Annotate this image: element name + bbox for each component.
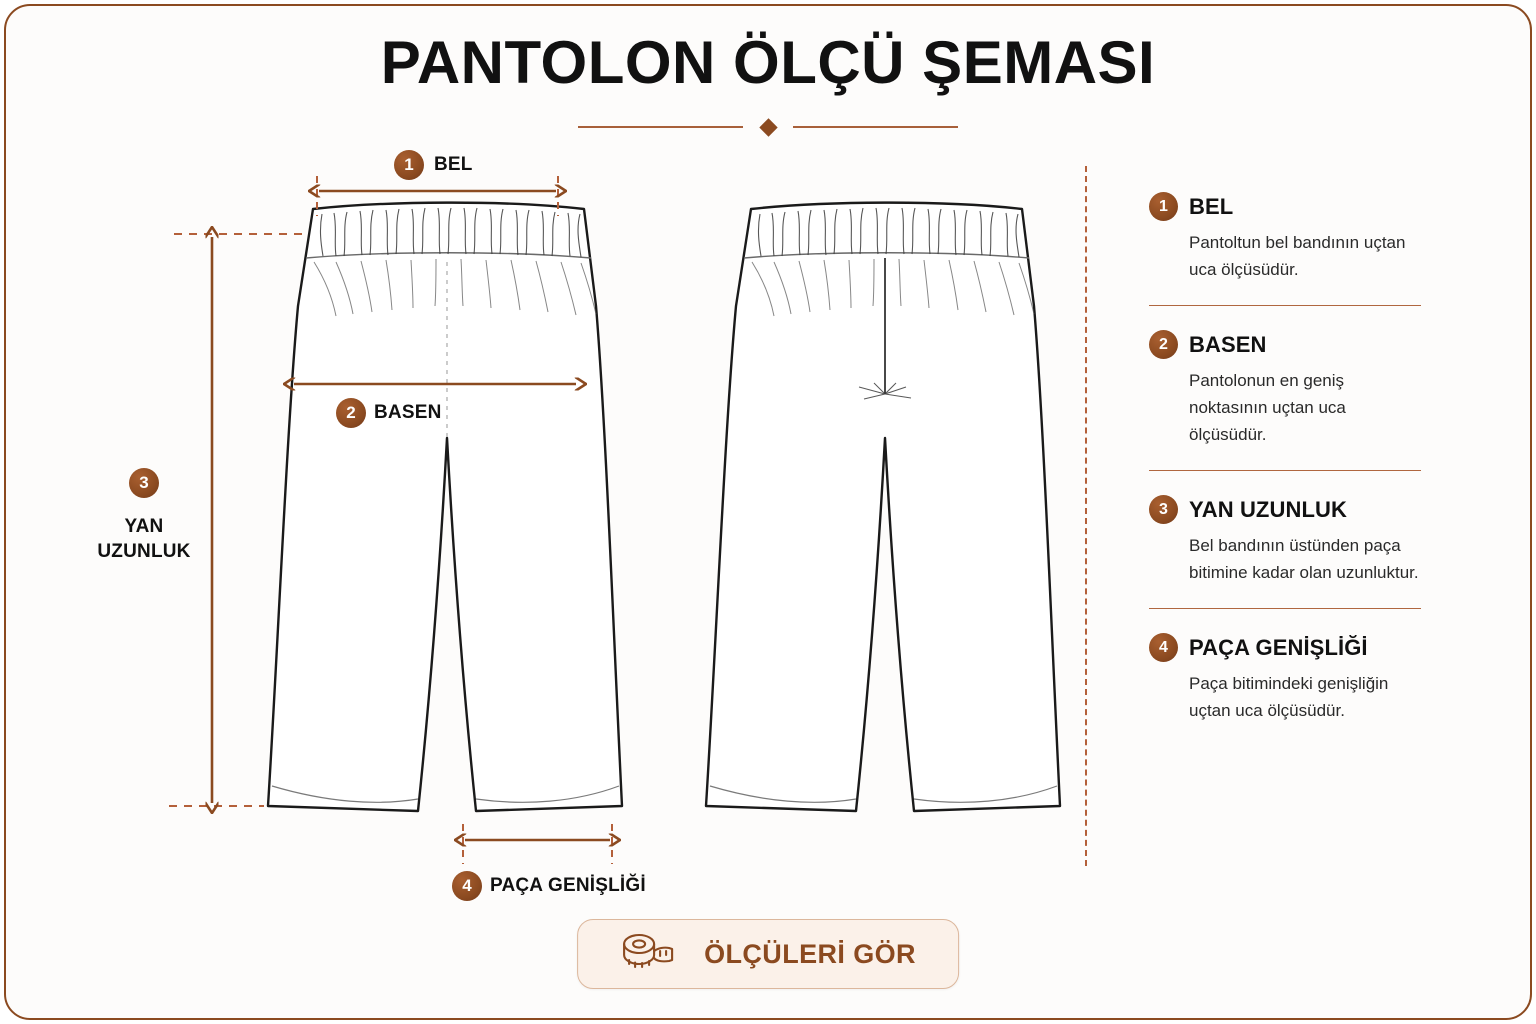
diagram-label-yan-uzunluk: YAN UZUNLUK: [84, 514, 204, 564]
legend-title-3: YAN UZUNLUK: [1189, 497, 1347, 523]
legend-title-1: BEL: [1189, 194, 1233, 220]
legend-badge-4: 4: [1149, 633, 1178, 662]
diagram-badge-3: 3: [129, 468, 159, 498]
legend-item-bel: 1 BEL Pantoltun bel bandının uçtan uca ö…: [1149, 192, 1421, 283]
legend-badge-1: 1: [1149, 192, 1178, 221]
legend-title-4: PAÇA GENİŞLİĞİ: [1189, 635, 1368, 661]
legend-separator-3: [1149, 608, 1421, 609]
view-measurements-label: ÖLÇÜLERİ GÖR: [704, 939, 916, 970]
diagram-badge-2: 2: [336, 398, 366, 428]
legend-desc-1: Pantoltun bel bandının uçtan uca ölçüsüd…: [1189, 229, 1421, 283]
legend-item-basen: 2 BASEN Pantolonun en geniş noktasının u…: [1149, 330, 1421, 448]
legend-desc-4: Paça bitimindeki genişliğin uçtan uca öl…: [1189, 670, 1421, 724]
pants-front-view: [268, 203, 622, 811]
measure-paca-genisligi: [463, 824, 612, 864]
diagram-label-paca-genisligi: PAÇA GENİŞLİĞİ: [490, 875, 646, 897]
legend-badge-3: 3: [1149, 495, 1178, 524]
diagram-label-basen: BASEN: [374, 402, 442, 424]
measuring-tape-icon: [620, 931, 676, 978]
back-body-outline: [706, 203, 1060, 811]
pants-back-view: [706, 203, 1060, 811]
pants-diagram: 1 BEL 2 BASEN 3 YAN UZUNLUK 4 PAÇA GENİŞ…: [6, 6, 1089, 1020]
legend-desc-3: Bel bandının üstünden paça bitimine kada…: [1189, 532, 1421, 586]
legend-head-1: 1 BEL: [1149, 192, 1421, 221]
legend-separator-2: [1149, 470, 1421, 471]
legend-title-2: BASEN: [1189, 332, 1267, 358]
legend-head-3: 3 YAN UZUNLUK: [1149, 495, 1421, 524]
pants-technical-drawing: [6, 6, 1089, 1020]
legend-badge-2: 2: [1149, 330, 1178, 359]
legend-separator-1: [1149, 305, 1421, 306]
view-measurements-button[interactable]: ÖLÇÜLERİ GÖR: [577, 919, 959, 989]
diagram-badge-1: 1: [394, 150, 424, 180]
legend-desc-2: Pantolonun en geniş noktasının uçtan uca…: [1189, 367, 1421, 448]
legend-head-4: 4 PAÇA GENİŞLİĞİ: [1149, 633, 1421, 662]
front-body-outline: [268, 203, 622, 811]
measurement-legend: 1 BEL Pantoltun bel bandının uçtan uca ö…: [1149, 192, 1421, 724]
legend-head-2: 2 BASEN: [1149, 330, 1421, 359]
diagram-badge-4: 4: [452, 871, 482, 901]
legend-item-paca-genisligi: 4 PAÇA GENİŞLİĞİ Paça bitimindeki genişl…: [1149, 633, 1421, 724]
legend-item-yan-uzunluk: 3 YAN UZUNLUK Bel bandının üstünden paça…: [1149, 495, 1421, 586]
diagram-label-bel: BEL: [434, 154, 473, 176]
size-chart-card: PANTOLON ÖLÇÜ ŞEMASI: [4, 4, 1532, 1020]
